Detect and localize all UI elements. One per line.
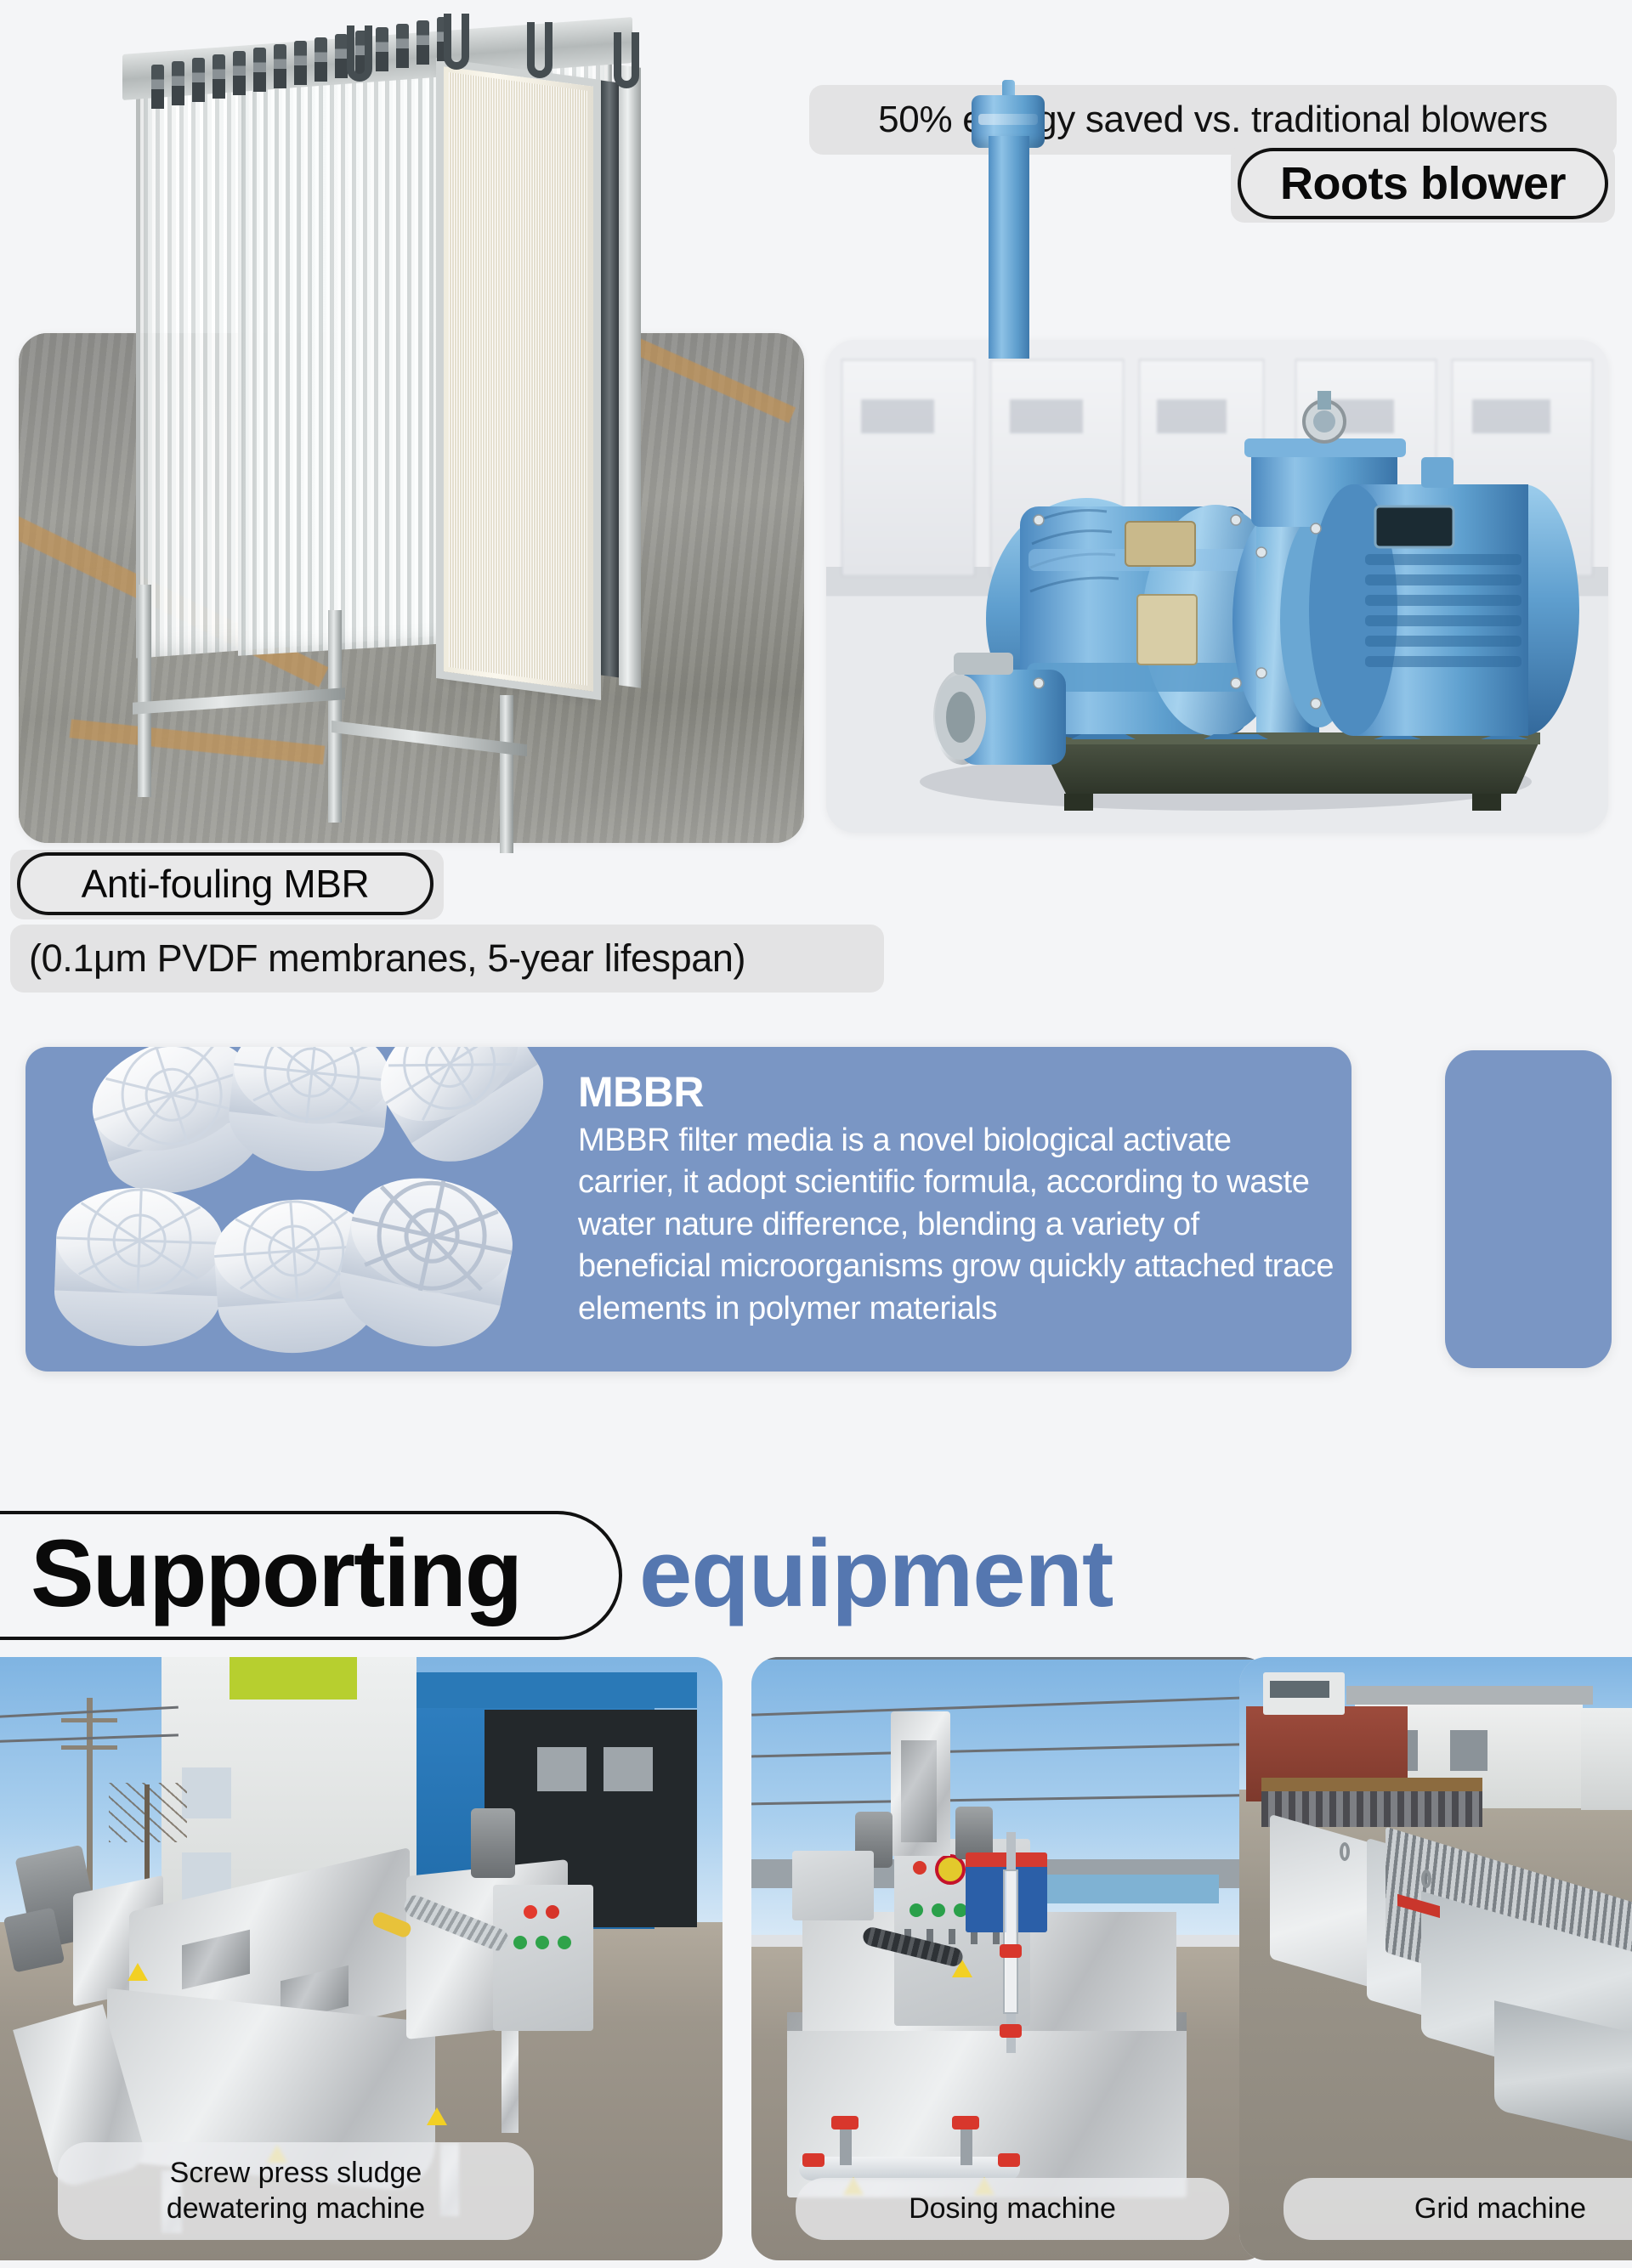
heading-supporting-text: Supporting: [31, 1523, 521, 1626]
mbr-membrane-photo: [19, 333, 804, 843]
badge-pvdf-spec: (0.1μm PVDF membranes, 5-year lifespan): [10, 925, 884, 993]
side-accent-card: [1445, 1050, 1612, 1368]
mbbr-info-card: MBBR MBBR filter media is a novel biolog…: [25, 1047, 1351, 1372]
section-heading: Supporting equipment: [0, 1511, 1632, 1647]
mbbr-description: MBBR filter media is a novel biological …: [578, 1120, 1334, 1330]
badge-roots-blower: Roots blower: [1238, 148, 1608, 219]
equipment-caption: Dosing machine: [796, 2178, 1229, 2240]
equipment-card-grid: Grid machine: [1239, 1657, 1632, 2260]
equipment-caption: Screw press sludge dewatering machine: [58, 2142, 534, 2240]
poster-page: 50% energy saved vs. traditional blowers…: [0, 0, 1632, 2268]
mbbr-text-block: MBBR MBBR filter media is a novel biolog…: [578, 1062, 1334, 1330]
heading-equipment-text: equipment: [639, 1523, 1113, 1626]
equipment-caption: Grid machine: [1283, 2178, 1632, 2240]
blower-inlet-stack: [972, 75, 1045, 355]
mbbr-title: MBBR: [578, 1071, 1334, 1113]
badge-anti-fouling-mbr: Anti-fouling MBR: [17, 852, 433, 915]
mbbr-media-photo: [31, 1047, 575, 1372]
equipment-card-screw-press: Screw press sludge dewatering machine: [0, 1657, 722, 2260]
roots-blower-photo: [826, 340, 1608, 833]
equipment-card-dosing: Dosing machine: [751, 1657, 1270, 2260]
blower-machine-illustration: [826, 340, 1608, 833]
